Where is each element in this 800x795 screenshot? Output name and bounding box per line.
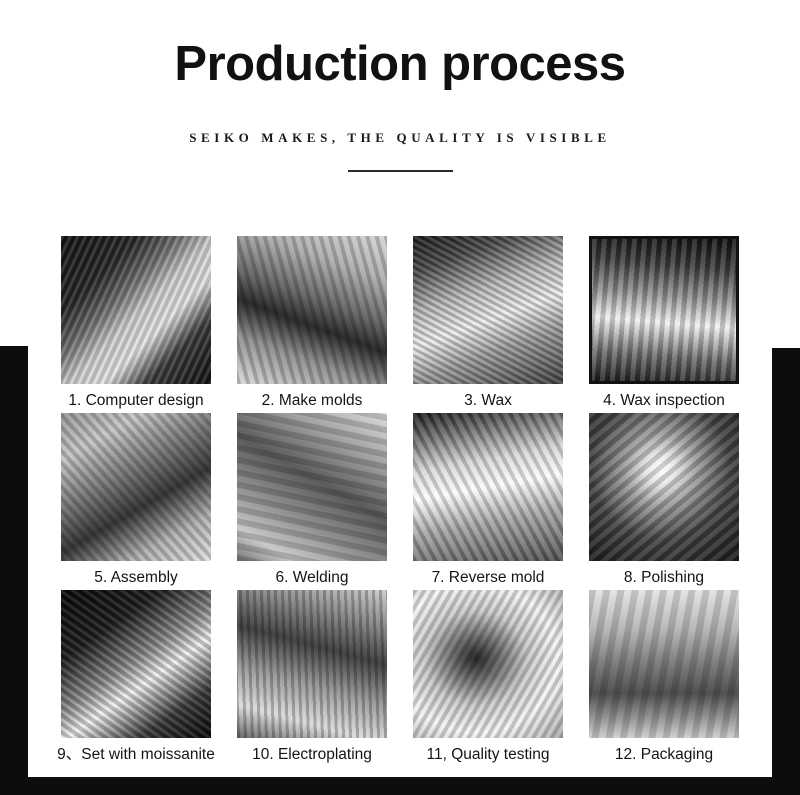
welding-photo [237,413,387,561]
reverse-mold-photo [413,413,563,561]
page-subtitle: SEIKO MAKES, THE QUALITY IS VISIBLE [48,94,752,146]
process-step-2[interactable]: 2. Make molds [224,236,400,411]
computer-design-photo [61,236,211,384]
process-step-5[interactable]: 5. Assembly [48,413,224,588]
process-step-caption: 10. Electroplating [252,746,372,765]
process-step-caption: 1. Computer design [68,392,203,411]
process-step-7[interactable]: 7. Reverse mold [400,413,576,588]
process-step-caption: 11, Quality testing [427,746,550,765]
process-row: 5. Assembly 6. Welding 7. Reverse mold 8… [48,413,752,590]
process-step-caption: 2. Make molds [262,392,363,411]
process-step-caption: 5. Assembly [94,569,178,588]
production-process-poster: Production process SEIKO MAKES, THE QUAL… [0,0,800,795]
polishing-photo [589,413,739,561]
assembly-photo [61,413,211,561]
packaging-photo [589,590,739,738]
process-step-1[interactable]: 1. Computer design [48,236,224,411]
right-accent-bar [772,348,800,795]
process-step-9[interactable]: 9、Set with moissanite [48,590,224,765]
make-molds-photo [237,236,387,384]
wax-inspection-photo [589,236,739,384]
set-moissanite-photo [61,590,211,738]
process-grid: 1. Computer design 2. Make molds 3. Wax … [48,236,752,767]
process-step-12[interactable]: 12. Packaging [576,590,752,765]
process-step-10[interactable]: 10. Electroplating [224,590,400,765]
electroplating-photo [237,590,387,738]
process-step-caption: 6. Welding [276,569,349,588]
process-row: 1. Computer design 2. Make molds 3. Wax … [48,236,752,413]
process-step-4[interactable]: 4. Wax inspection [576,236,752,411]
bottom-accent-bar [0,777,800,795]
process-step-11[interactable]: 11, Quality testing [400,590,576,765]
poster-header: Production process SEIKO MAKES, THE QUAL… [48,0,752,172]
quality-testing-photo [413,590,563,738]
process-step-caption: 7. Reverse mold [432,569,545,588]
title-divider [348,170,453,172]
content-card: Production process SEIKO MAKES, THE QUAL… [48,0,752,777]
process-row: 9、Set with moissanite 10. Electroplating… [48,590,752,767]
left-accent-bar [0,346,28,795]
process-step-8[interactable]: 8. Polishing [576,413,752,588]
divider-wrap [48,146,752,172]
process-step-caption: 9、Set with moissanite [57,746,215,765]
process-step-3[interactable]: 3. Wax [400,236,576,411]
page-title: Production process [48,0,752,94]
process-step-caption: 12. Packaging [615,746,713,765]
process-step-caption: 3. Wax [464,392,512,411]
wax-photo [413,236,563,384]
process-step-caption: 4. Wax inspection [603,392,725,411]
process-step-caption: 8. Polishing [624,569,704,588]
process-step-6[interactable]: 6. Welding [224,413,400,588]
